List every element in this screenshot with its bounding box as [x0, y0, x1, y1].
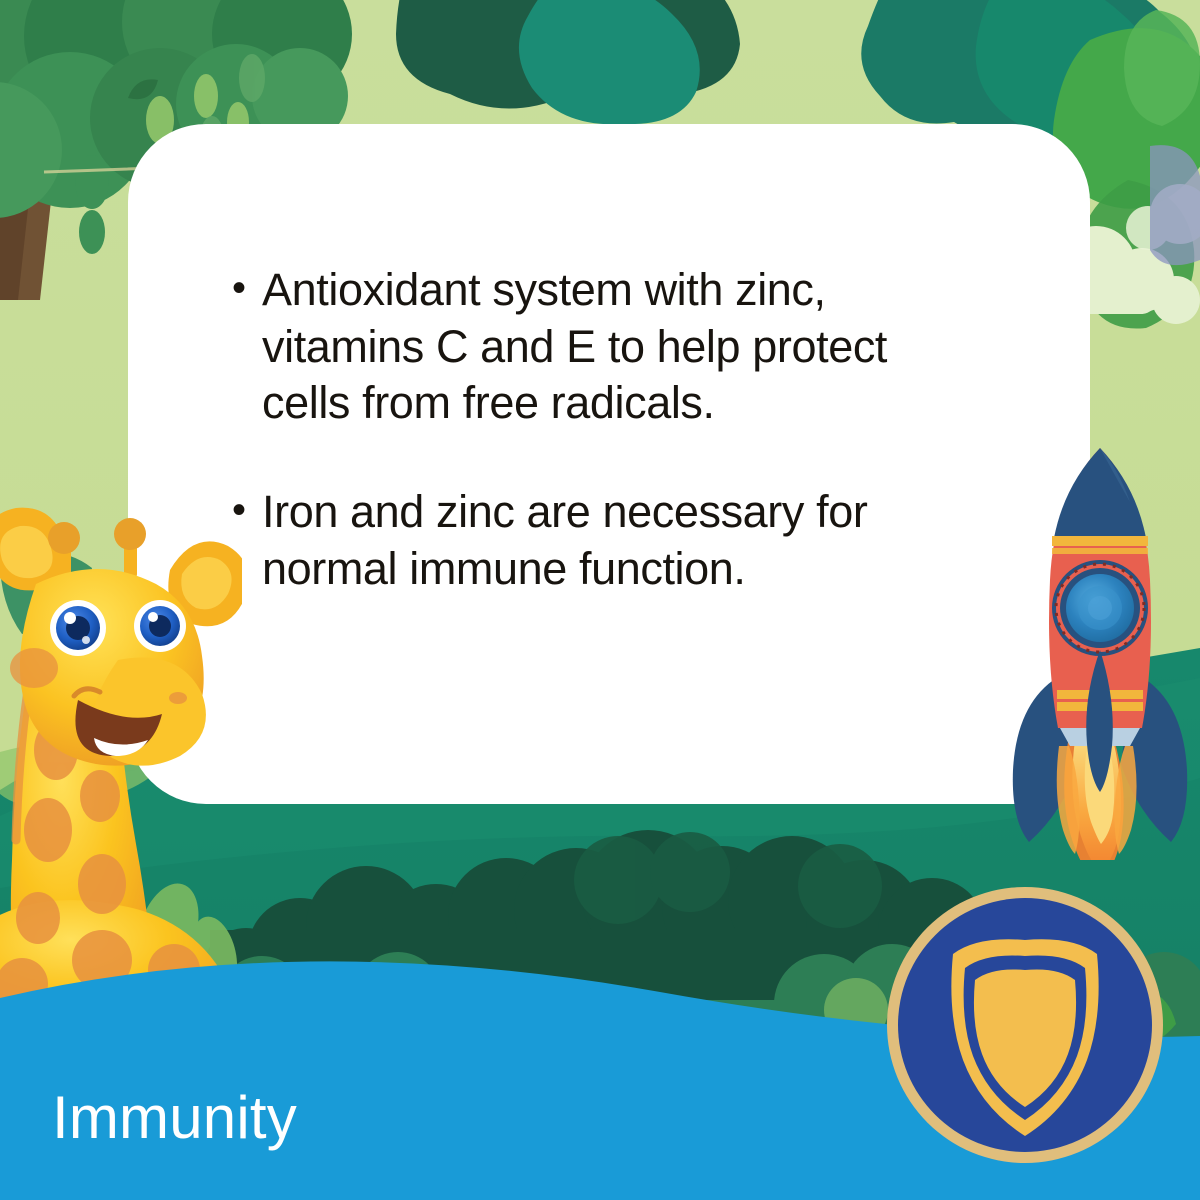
page-title: Immunity: [52, 1088, 297, 1148]
bullet-text-1: Antioxidant system with zinc, vitamins C…: [262, 262, 952, 432]
giraffe-eye-left: [50, 600, 106, 656]
distant-shape: [1150, 145, 1200, 265]
bullet-item-2: • Iron and zinc are necessary for normal…: [232, 484, 952, 597]
slide-canvas: • Antioxidant system with zinc, vitamins…: [0, 0, 1200, 1200]
giraffe-eye-right: [134, 600, 186, 652]
bullet-text-2: Iron and zinc are necessary for normal i…: [262, 484, 952, 597]
bullet-glyph-icon: •: [232, 262, 262, 314]
rocket-illustration: [1005, 440, 1195, 860]
bullet-list: • Antioxidant system with zinc, vitamins…: [232, 262, 952, 597]
rocket-nose: [1054, 448, 1146, 538]
rocket-window: [1052, 560, 1148, 656]
status-badge: [884, 884, 1166, 1166]
bullet-item-1: • Antioxidant system with zinc, vitamins…: [232, 262, 952, 432]
